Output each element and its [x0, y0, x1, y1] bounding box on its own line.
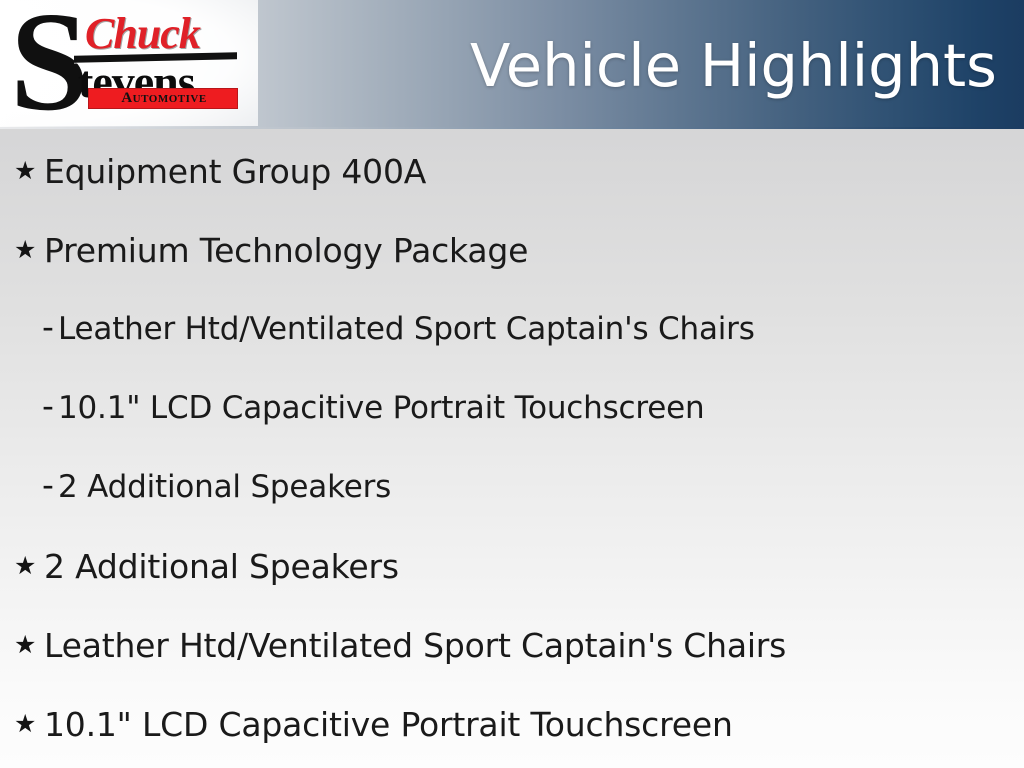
- star-bullet-icon: ★: [14, 158, 44, 183]
- dealer-logo-artwork: S Chuck tevens Automotive: [0, 0, 258, 126]
- highlight-label: 10.1" LCD Capacitive Portrait Touchscree…: [44, 705, 733, 744]
- star-bullet-icon: ★: [14, 632, 44, 657]
- highlight-label: 2 Additional Speakers: [44, 547, 399, 586]
- highlight-row: ★10.1" LCD Capacitive Portrait Touchscre…: [0, 704, 1024, 744]
- highlight-row: ★Equipment Group 400A: [0, 151, 1024, 191]
- star-bullet-icon: ★: [14, 553, 44, 578]
- page-title: Vehicle Highlights: [470, 26, 1000, 106]
- dash-bullet-icon: -: [42, 468, 58, 501]
- highlight-row: -2 Additional Speakers: [0, 467, 1024, 507]
- dealer-logo[interactable]: S Chuck tevens Automotive: [0, 0, 258, 126]
- vehicle-highlights-slide: S Chuck tevens Automotive Vehicle Highli…: [0, 0, 1024, 768]
- highlight-row: -10.1" LCD Capacitive Portrait Touchscre…: [0, 388, 1024, 428]
- star-bullet-icon: ★: [14, 711, 44, 736]
- highlight-label: Premium Technology Package: [44, 231, 528, 270]
- highlight-row: ★Leather Htd/Ventilated Sport Captain's …: [0, 625, 1024, 665]
- highlight-label: Equipment Group 400A: [44, 152, 426, 191]
- logo-text-automotive: Automotive: [89, 89, 239, 108]
- slide-header: S Chuck tevens Automotive Vehicle Highli…: [0, 0, 1024, 129]
- dash-bullet-icon: -: [42, 389, 58, 422]
- dash-bullet-icon: -: [42, 310, 58, 343]
- highlight-label: 10.1" LCD Capacitive Portrait Touchscree…: [58, 390, 704, 426]
- vehicle-highlights-list: ★Equipment Group 400A★Premium Technology…: [0, 129, 1024, 768]
- highlight-row: -Leather Htd/Ventilated Sport Captain's …: [0, 309, 1024, 349]
- logo-text-chuck: Chuck: [85, 8, 200, 59]
- logo-automotive-banner: Automotive: [88, 88, 238, 109]
- highlight-row: ★Premium Technology Package: [0, 230, 1024, 270]
- highlight-label: Leather Htd/Ventilated Sport Captain's C…: [44, 626, 786, 665]
- highlight-label: 2 Additional Speakers: [58, 469, 391, 505]
- highlight-label: Leather Htd/Ventilated Sport Captain's C…: [58, 311, 755, 347]
- highlight-row: ★2 Additional Speakers: [0, 546, 1024, 586]
- star-bullet-icon: ★: [14, 237, 44, 262]
